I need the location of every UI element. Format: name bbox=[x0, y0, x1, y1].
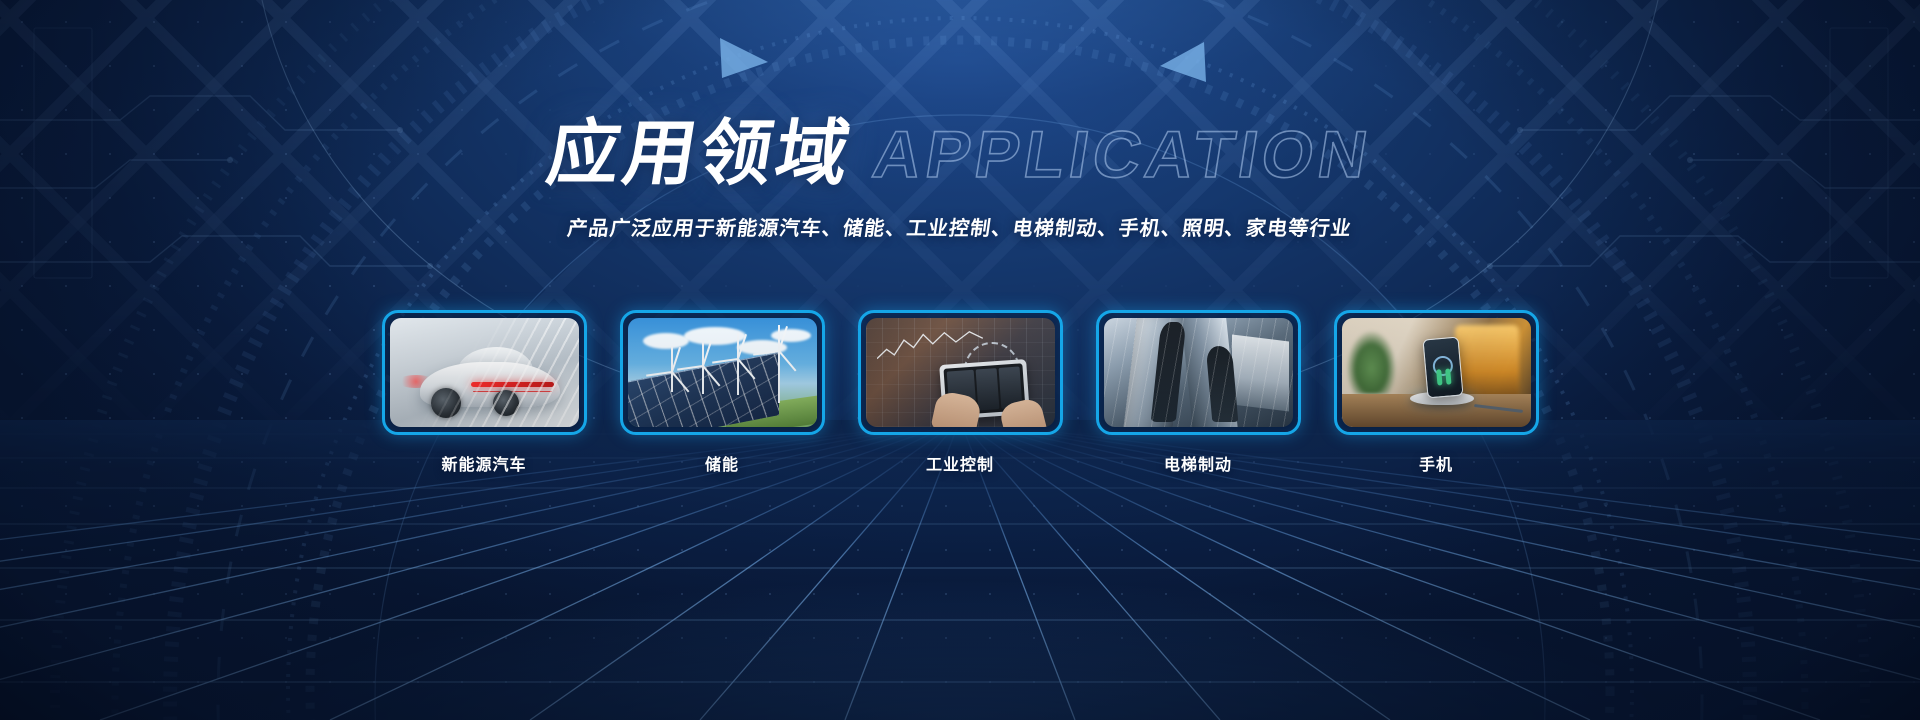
card-label: 新能源汽车 bbox=[441, 451, 526, 475]
card-frame[interactable] bbox=[620, 310, 825, 435]
application-card-industrial-control[interactable]: 工业控制 bbox=[858, 310, 1063, 475]
title-row: 应用领域 APPLICATION bbox=[548, 118, 1371, 190]
application-card-list: 新能源汽车 bbox=[0, 310, 1920, 475]
card-frame[interactable] bbox=[858, 310, 1063, 435]
industrial-tablet-image bbox=[866, 318, 1055, 427]
card-label: 储能 bbox=[705, 451, 739, 475]
application-banner: 应用领域 APPLICATION 产品广泛应用于新能源汽车、储能、工业控制、电梯… bbox=[0, 0, 1920, 720]
application-card-new-energy-vehicle[interactable]: 新能源汽车 bbox=[382, 310, 587, 475]
application-card-energy-storage[interactable]: 储能 bbox=[620, 310, 825, 475]
card-label: 手机 bbox=[1419, 451, 1453, 475]
card-label: 工业控制 bbox=[926, 451, 994, 475]
smartphone-charger-image bbox=[1342, 318, 1531, 427]
application-card-mobile-phone[interactable]: 手机 bbox=[1334, 310, 1539, 475]
card-frame[interactable] bbox=[1334, 310, 1539, 435]
solar-wind-image bbox=[628, 318, 817, 427]
application-card-elevator-brake[interactable]: 电梯制动 bbox=[1096, 310, 1301, 475]
banner-subtitle: 产品广泛应用于新能源汽车、储能、工业控制、电梯制动、手机、照明、家电等行业 bbox=[0, 212, 1920, 241]
ev-car-image bbox=[390, 318, 579, 427]
card-frame[interactable] bbox=[1096, 310, 1301, 435]
card-label: 电梯制动 bbox=[1164, 451, 1232, 475]
banner-header: 应用领域 APPLICATION 产品广泛应用于新能源汽车、储能、工业控制、电梯… bbox=[0, 118, 1920, 241]
elevator-shaft-image bbox=[1104, 318, 1293, 427]
page-title: 应用领域 bbox=[543, 118, 858, 190]
page-title-english: APPLICATION bbox=[869, 121, 1377, 187]
card-frame[interactable] bbox=[382, 310, 587, 435]
